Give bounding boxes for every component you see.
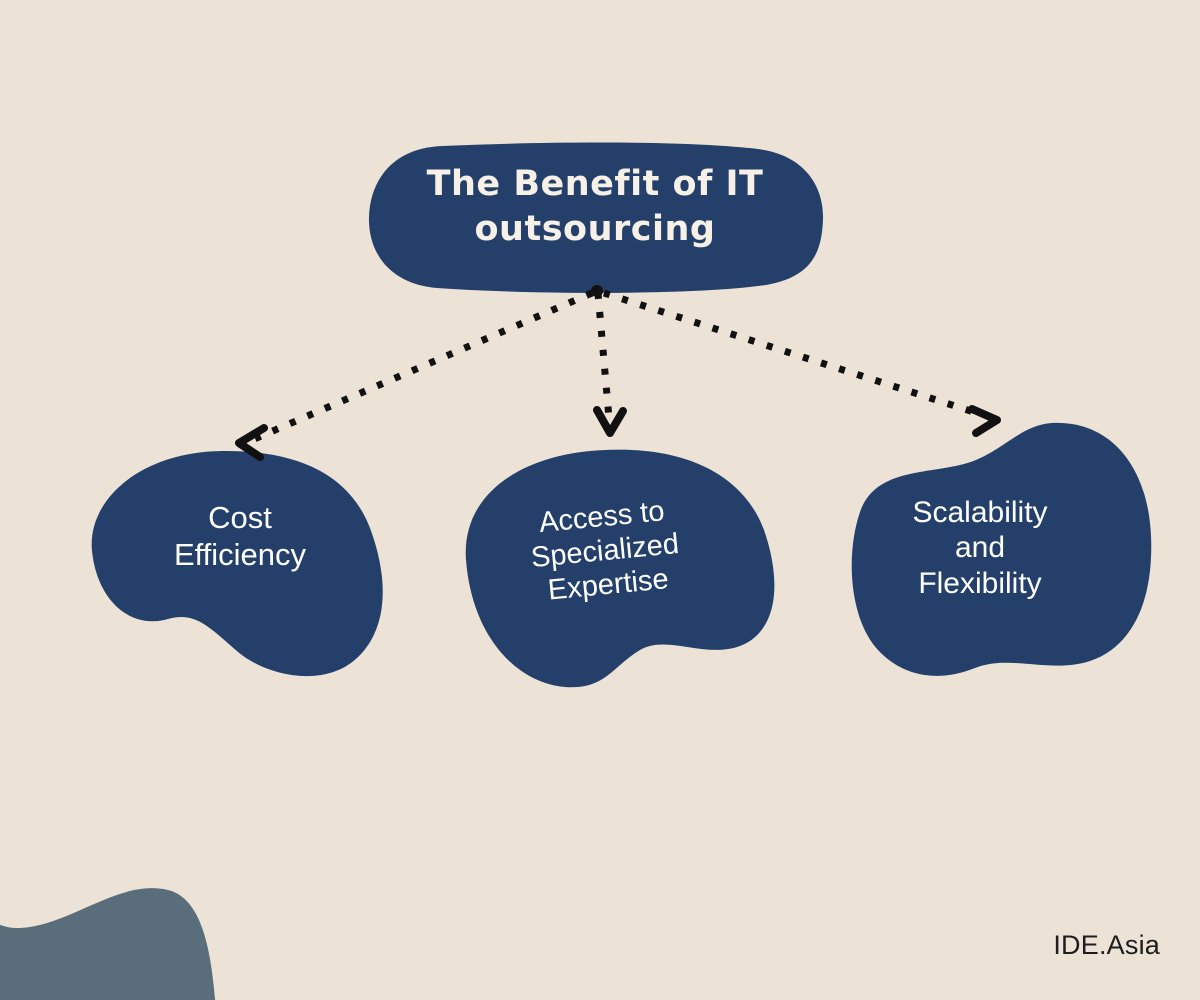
connector-origin-dot [591, 285, 603, 297]
root-title-shape [369, 143, 823, 293]
diagram-artwork [0, 0, 1200, 1000]
diagram-canvas: The Benefit of IT outsourcing Cost Effic… [0, 0, 1200, 1000]
